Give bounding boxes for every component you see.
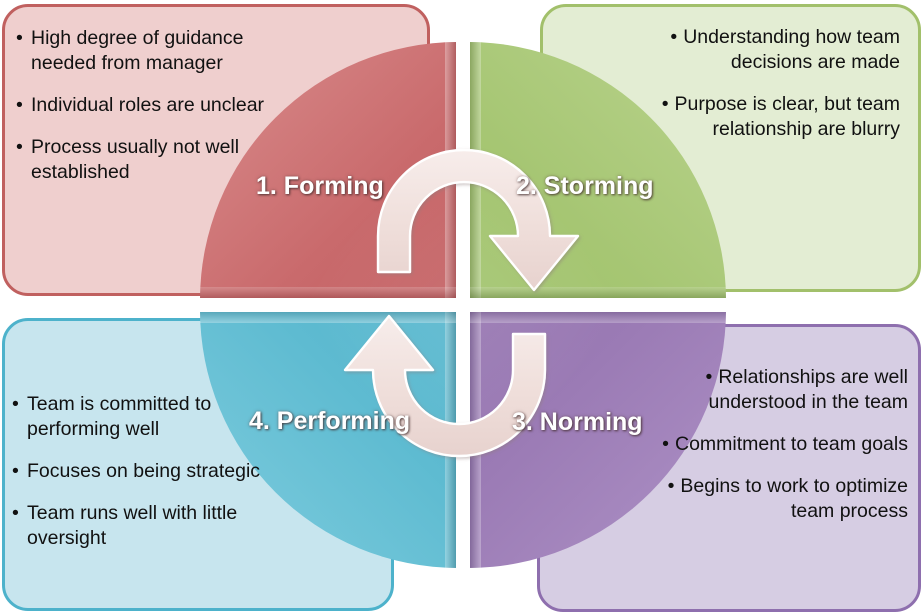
bullet-list-norming: Relationships are well understood in the… — [620, 365, 908, 541]
list-item: Team is committed to performing well — [12, 392, 270, 442]
list-item: Commitment to team goals — [620, 432, 908, 457]
list-item: Process usually not well established — [16, 135, 266, 185]
list-item: Team runs well with little oversight — [12, 501, 270, 551]
diagram-canvas: 1. Forming 2. Storming 3. Norming 4. Per… — [0, 0, 923, 616]
bullet-list-performing: Team is committed to performing well Foc… — [12, 392, 270, 568]
stage-label-storming: 2. Storming — [516, 172, 654, 201]
stage-label-performing: 4. Performing — [249, 407, 410, 436]
bullet-list-storming: Understanding how team decisions are mad… — [622, 25, 900, 159]
list-item: Purpose is clear, but team relationship … — [622, 92, 900, 142]
list-item: Focuses on being strategic — [12, 459, 270, 484]
list-item: Understanding how team decisions are mad… — [622, 25, 900, 75]
bullet-list-forming: High degree of guidance needed from mana… — [16, 26, 266, 202]
list-item: High degree of guidance needed from mana… — [16, 26, 266, 76]
list-item: Begins to work to optimize team process — [620, 474, 908, 524]
list-item: Relationships are well understood in the… — [620, 365, 908, 415]
list-item: Individual roles are unclear — [16, 93, 266, 118]
stage-label-forming: 1. Forming — [256, 172, 384, 201]
